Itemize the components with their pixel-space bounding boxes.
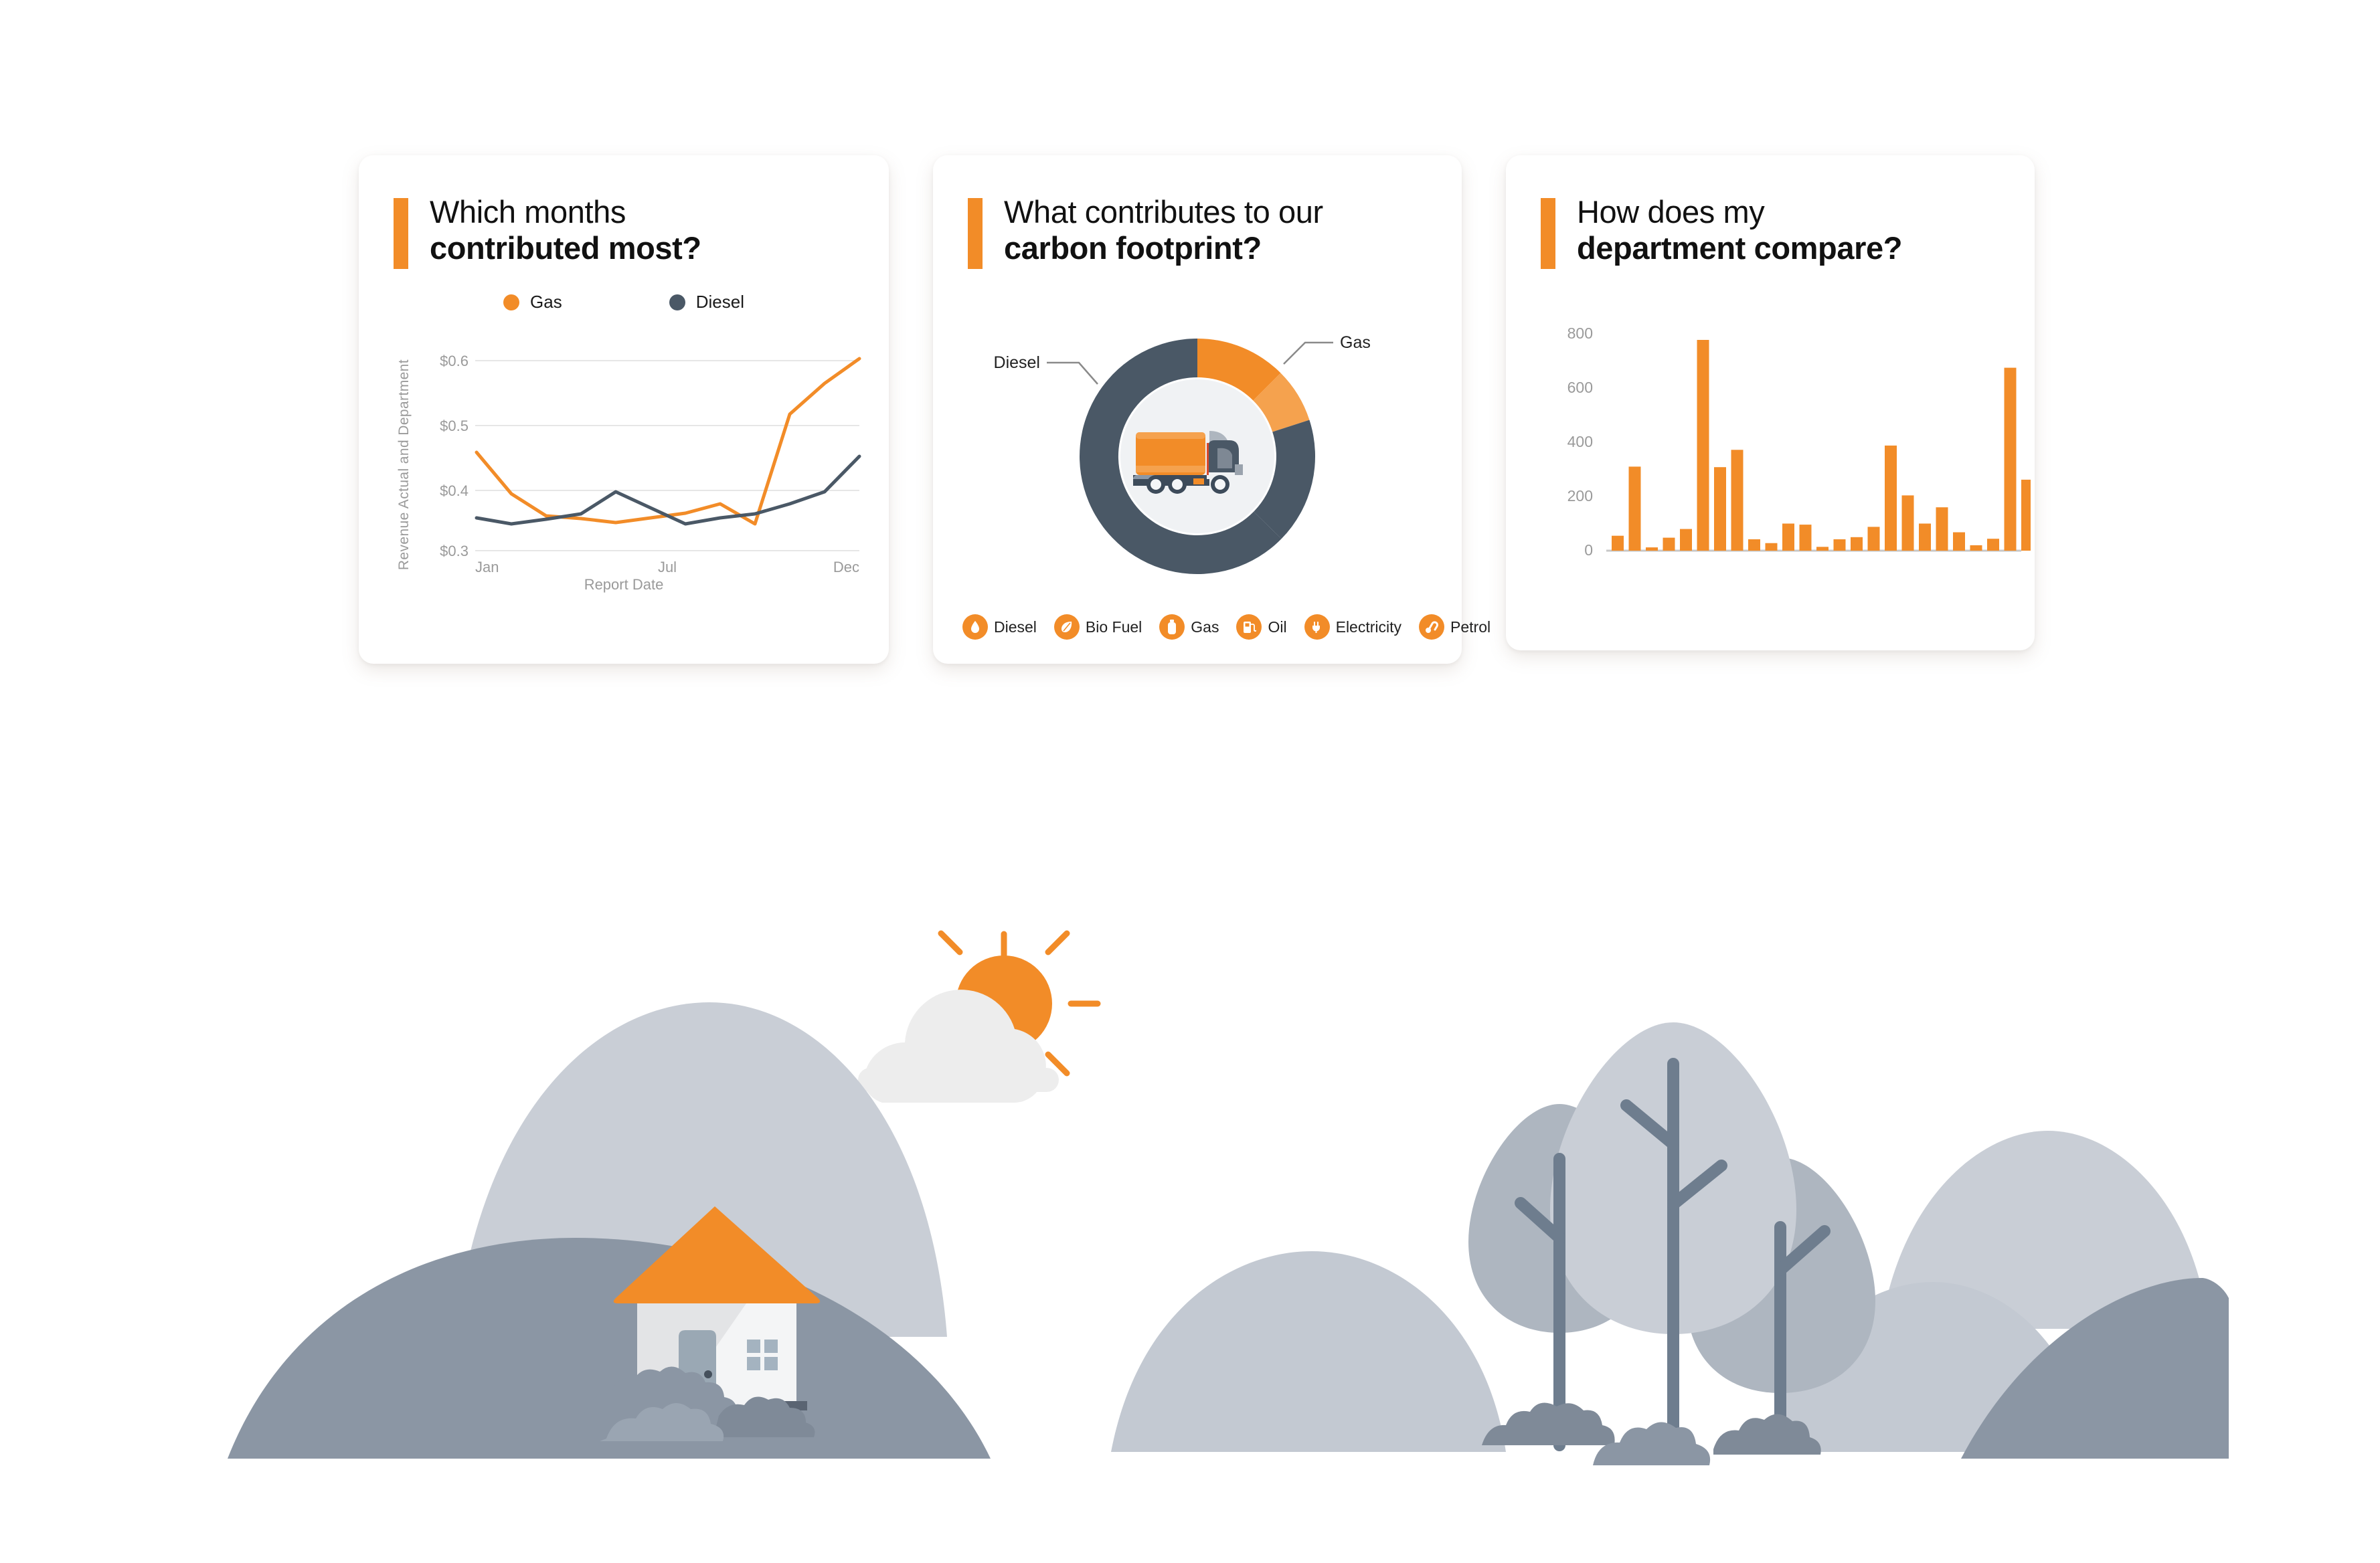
table-row: [1748, 539, 1760, 551]
table-row: [1697, 340, 1709, 551]
oil-can-icon: [962, 614, 988, 640]
card-header: Which months contributed most?: [359, 155, 889, 269]
fuel-legend-label-diesel: Diesel: [994, 618, 1037, 636]
truck-icon: [1133, 431, 1243, 494]
fuel-legend-item-electricity[interactable]: Electricity: [1304, 614, 1401, 640]
x-tick-jan: Jan: [475, 559, 499, 575]
x-axis-label: Report Date: [359, 576, 889, 593]
x-tick-dec: Dec: [833, 559, 859, 575]
fuel-legend-item-gas[interactable]: Gas: [1159, 614, 1219, 640]
fuel-legend-label-bio-fuel: Bio Fuel: [1086, 618, 1142, 636]
line-chart[interactable]: Revenue Actual and Department $0.6 $0.5 …: [359, 330, 889, 618]
door-knob-icon: [704, 1370, 712, 1378]
legend-item-gas[interactable]: Gas: [503, 292, 562, 312]
donut-callout-gas: Gas: [1340, 333, 1371, 352]
plug-icon: [1304, 614, 1330, 640]
fuel-legend-label-gas: Gas: [1191, 618, 1219, 636]
y-tick-0.3: $0.3: [440, 543, 469, 559]
table-row: [1936, 507, 1948, 551]
donut-chart[interactable]: Diesel Gas: [933, 284, 1462, 585]
table-row: [1970, 545, 1982, 551]
page-title: How does my department compare?: [1577, 194, 1902, 266]
table-row: [1663, 538, 1675, 551]
table-row: [1851, 537, 1863, 551]
hill-mid-center: [1111, 1251, 1506, 1452]
y-tick-600: 600: [1567, 379, 1593, 396]
table-row: [2021, 480, 2031, 551]
y-tick-0.4: $0.4: [440, 482, 469, 499]
y-tick-800: 800: [1567, 325, 1593, 342]
line-chart-plot: $0.6 $0.5 $0.4 $0.3 Jan Jul Dec: [423, 350, 865, 577]
table-row: [2005, 368, 2017, 551]
table-row: [1646, 547, 1658, 551]
table-row: [1629, 466, 1641, 551]
y-tick-0.6: $0.6: [440, 353, 469, 369]
y-tick-0: 0: [1584, 541, 1593, 559]
table-row: [1612, 536, 1624, 551]
legend-label-gas: Gas: [530, 292, 562, 312]
card-which-months[interactable]: Which months contributed most? Gas Diese…: [359, 155, 889, 664]
page-title: What contributes to our carbon footprint…: [1004, 194, 1323, 266]
donut-callout-diesel: Diesel: [994, 353, 1040, 372]
legend-dot-gas-icon: [503, 294, 519, 310]
table-row: [1885, 446, 1897, 551]
table-row: [1816, 547, 1829, 551]
table-row: [1987, 539, 1999, 551]
legend-label-diesel: Diesel: [696, 292, 744, 312]
y-axis-label: Revenue Actual and Department: [396, 359, 412, 570]
hills-icon: [221, 1002, 2229, 1463]
donut-chart-svg: Diesel Gas: [933, 284, 1462, 591]
accent-bar-icon: [968, 198, 983, 269]
leaf-icon: [1054, 614, 1080, 640]
accent-bar-icon: [394, 198, 408, 269]
table-row: [1868, 527, 1880, 551]
card-title-line2: department compare?: [1577, 230, 1902, 266]
table-row: [1902, 495, 1914, 551]
card-header: What contributes to our carbon footprint…: [933, 155, 1462, 269]
table-row: [1714, 467, 1726, 551]
table-row: [1766, 543, 1778, 551]
fuel-legend-label-oil: Oil: [1268, 618, 1286, 636]
card-title-line2: carbon footprint?: [1004, 230, 1323, 266]
accent-bar-icon: [1541, 198, 1555, 269]
fuel-legend-item-oil[interactable]: Oil: [1236, 614, 1286, 640]
y-tick-400: 400: [1567, 433, 1593, 450]
fuel-legend-item-diesel[interactable]: Diesel: [962, 614, 1037, 640]
nozzle-icon: [1419, 614, 1444, 640]
card-title-line1: What contributes to our: [1004, 194, 1323, 230]
x-tick-jul: Jul: [658, 559, 677, 575]
bar-chart[interactable]: 800 600 400 200 0: [1506, 309, 2035, 597]
gas-canister-icon: [1159, 614, 1185, 640]
y-tick-200: 200: [1567, 487, 1593, 504]
dashboard-card-row: Which months contributed most? Gas Diese…: [359, 155, 2035, 664]
card-department-compare[interactable]: How does my department compare? 800 600 …: [1506, 155, 2035, 650]
table-row: [1834, 539, 1846, 551]
table-row: [1800, 525, 1812, 551]
bar-chart-svg: 800 600 400 200 0: [1506, 309, 2035, 597]
card-header: How does my department compare?: [1506, 155, 2035, 269]
legend-item-diesel[interactable]: Diesel: [669, 292, 744, 312]
fuel-legend-item-petrol[interactable]: Petrol: [1419, 614, 1491, 640]
table-row: [1953, 533, 1965, 551]
fuel-type-legend: Diesel Bio Fuel Gas Oil: [962, 614, 1491, 640]
landscape-svg: [0, 769, 2380, 1563]
page-title: Which months contributed most?: [430, 194, 701, 266]
card-title-line1: How does my: [1577, 194, 1902, 230]
sun-behind-cloud-icon: [858, 933, 1098, 1103]
table-row: [1731, 450, 1744, 551]
y-tick-0.5: $0.5: [440, 418, 469, 434]
table-row: [1680, 529, 1692, 551]
fuel-legend-label-petrol: Petrol: [1450, 618, 1491, 636]
card-carbon-footprint[interactable]: What contributes to our carbon footprint…: [933, 155, 1462, 664]
fuel-legend-item-bio-fuel[interactable]: Bio Fuel: [1054, 614, 1142, 640]
card-title-line1: Which months: [430, 194, 701, 230]
legend-dot-diesel-icon: [669, 294, 685, 310]
fuel-legend-label-electricity: Electricity: [1336, 618, 1401, 636]
line-chart-legend: Gas Diesel: [359, 292, 889, 312]
landscape-illustration: [0, 769, 2380, 1563]
bar-series: [1612, 340, 2031, 551]
table-row: [1919, 524, 1931, 551]
table-row: [1782, 524, 1794, 551]
card-title-line2: contributed most?: [430, 230, 701, 266]
fuel-pump-icon: [1236, 614, 1262, 640]
